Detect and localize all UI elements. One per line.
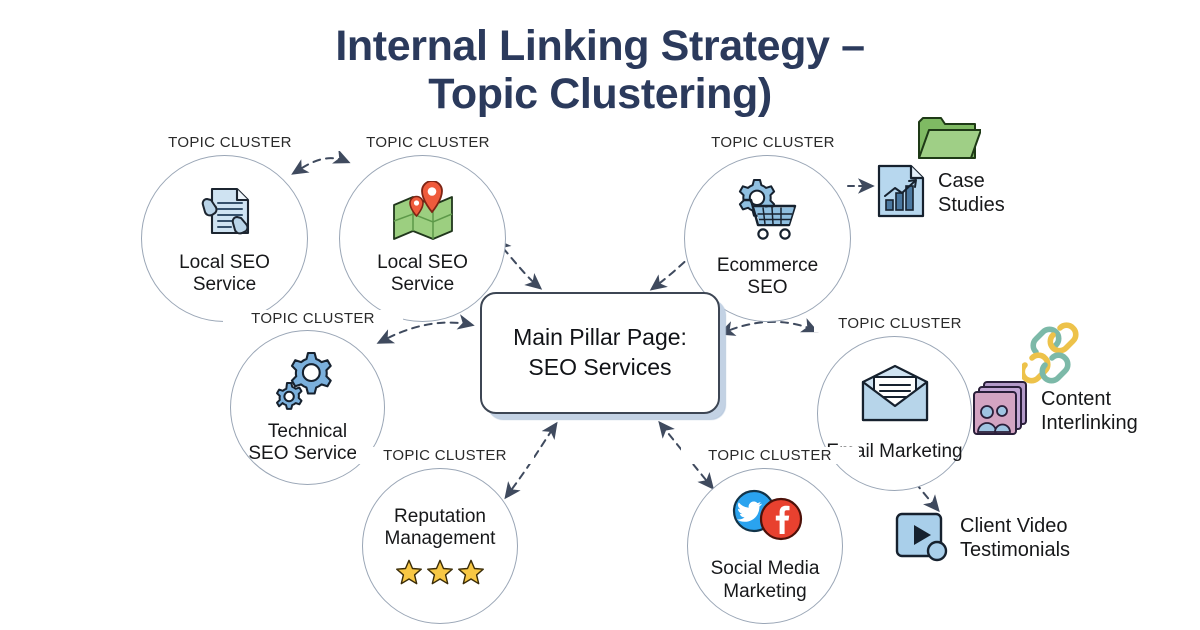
envelope-icon xyxy=(857,364,933,431)
document-cursor-icon xyxy=(193,181,257,248)
social-badges-icon xyxy=(726,489,804,546)
three-stars-icon xyxy=(395,558,485,586)
title-line-2: Topic Clustering) xyxy=(0,70,1200,118)
cluster-caption: TOPIC CLUSTER xyxy=(335,134,521,151)
page-title: Internal Linking Strategy – Topic Cluste… xyxy=(0,22,1200,118)
satellite-case-studies[interactable]: Case Studies xyxy=(873,162,1005,225)
content-interlinking-icons xyxy=(970,378,1032,445)
map-pin-icon xyxy=(388,181,458,248)
cluster-caption: TOPIC CLUSTER xyxy=(137,134,323,151)
cluster-local-seo-service-map[interactable]: Local SEO Service TOPIC CLUSTER xyxy=(339,155,506,322)
gears-icon xyxy=(274,350,342,417)
satellite-label: Client Video Testimonials xyxy=(960,515,1070,562)
cluster-caption: TOPIC CLUSTER xyxy=(356,447,534,464)
satellite-content-interlinking[interactable]: Content Interlinking xyxy=(970,378,1138,445)
arrow-localseo-docs-to-localseo-map xyxy=(302,158,348,168)
arrow-pillar-to-email-marketing xyxy=(730,322,816,331)
cluster-label: Social Media Marketing xyxy=(711,558,820,602)
title-line-1: Internal Linking Strategy – xyxy=(0,22,1200,70)
chart-document-icon xyxy=(873,162,929,225)
cluster-reputation-management[interactable]: Reputation Management TOPIC CLUSTER xyxy=(362,468,518,624)
main-pillar-page-label: Main Pillar Page: SEO Services xyxy=(513,323,687,383)
diagram-canvas: Internal Linking Strategy – Topic Cluste… xyxy=(0,0,1200,630)
arrow-localseo-map-to-pillar xyxy=(503,248,540,288)
folder-icon xyxy=(915,110,981,169)
cluster-label: Ecommerce SEO xyxy=(717,255,818,299)
satellite-label: Content Interlinking xyxy=(1041,388,1138,435)
cluster-label: Reputation Management xyxy=(385,506,496,550)
case-studies-icons xyxy=(873,162,929,225)
cluster-local-seo-service-docs[interactable]: Local SEO Service TOPIC CLUSTER xyxy=(141,155,308,322)
main-pillar-page-node[interactable]: Main Pillar Page: SEO Services xyxy=(480,292,720,414)
cluster-label: Local SEO Service xyxy=(179,252,270,296)
chain-links-icon xyxy=(1022,322,1084,391)
cluster-caption: TOPIC CLUSTER xyxy=(814,315,986,332)
cluster-label: Technical SEO Services xyxy=(248,421,366,465)
cluster-email-marketing[interactable]: Email Marketing TOPIC CLUSTER xyxy=(817,336,972,491)
cluster-caption: TOPIC CLUSTER xyxy=(681,447,859,464)
cluster-social-media-marketing[interactable]: Social Media Marketing TOPIC CLUSTER xyxy=(687,468,843,624)
satellite-label: Case Studies xyxy=(938,170,1005,217)
cluster-caption: TOPIC CLUSTER xyxy=(680,134,866,151)
shopping-cart-gear-icon xyxy=(732,178,804,251)
satellite-client-video-testimonials[interactable]: Client Video Testimonials xyxy=(893,508,1070,569)
cluster-caption: TOPIC CLUSTER xyxy=(223,310,403,327)
cluster-label: Local SEO Service xyxy=(377,252,468,296)
video-play-icon xyxy=(893,508,951,569)
